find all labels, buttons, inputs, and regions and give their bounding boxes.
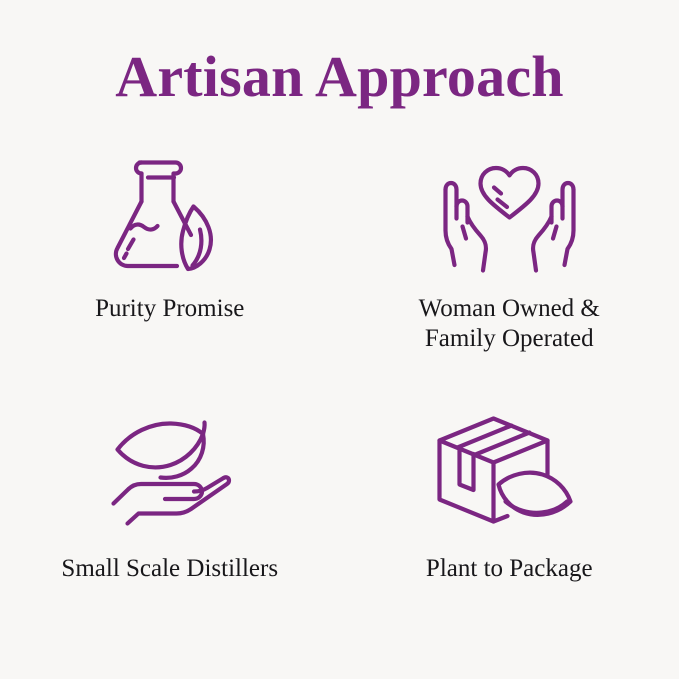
- feature-caption: Purity Promise: [95, 294, 244, 324]
- feature-caption: Small Scale Distillers: [61, 554, 278, 584]
- flask-leaf-icon: [95, 150, 245, 280]
- leaf-hand-icon: [95, 414, 245, 532]
- feature-item-woman-owned: Woman Owned & Family Operated: [340, 150, 679, 400]
- feature-item-purity-promise: Purity Promise: [0, 150, 340, 400]
- feature-item-small-scale-distillers: Small Scale Distillers: [0, 400, 340, 650]
- artisan-approach-graphic: Artisan Approach: [0, 0, 679, 679]
- feature-item-plant-to-package: Plant to Package: [340, 400, 679, 650]
- hands-heart-icon: [434, 150, 584, 280]
- page-title: Artisan Approach: [0, 44, 679, 110]
- feature-grid: Purity Promise: [0, 150, 679, 650]
- feature-caption: Plant to Package: [426, 554, 593, 584]
- feature-caption: Woman Owned & Family Operated: [419, 294, 600, 354]
- box-leaf-icon: [434, 414, 584, 532]
